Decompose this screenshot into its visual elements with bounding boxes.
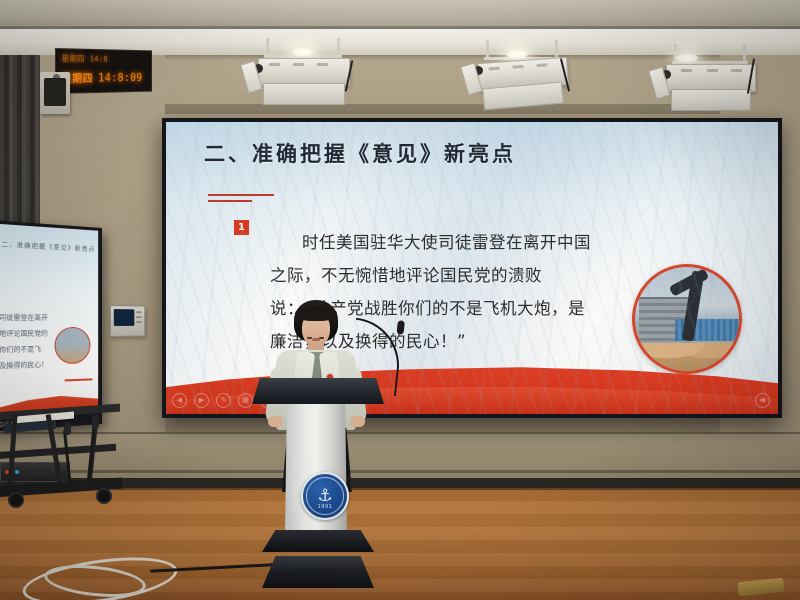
preview-slide-title: 二、准确把握《意见》新亮点 <box>1 239 95 254</box>
led-time: 14:8:09 <box>98 71 142 84</box>
av-control-panel[interactable] <box>110 305 145 337</box>
anchor-icon: ⚓ <box>317 487 332 504</box>
light-vent <box>269 63 280 66</box>
light-vent <box>707 69 718 72</box>
emblem-inner: ⚓ 1991 <box>303 474 347 518</box>
stage-light-left <box>258 38 348 110</box>
microphone-head-icon <box>92 416 99 429</box>
light-body <box>666 64 756 92</box>
control-panel-buttons[interactable] <box>136 311 141 324</box>
wall-speaker <box>40 72 70 114</box>
projection-screen: 二、准确把握《意见》新亮点 1 时任美国驻华大使司徒雷登在离开中国之际，不无惋惜… <box>162 118 782 418</box>
emblem-year: 1991 <box>303 504 347 510</box>
accent-rule-short <box>208 200 252 202</box>
light-lamp-icon <box>292 47 314 57</box>
slide-accent-rules <box>208 194 274 202</box>
presenter-fringe <box>295 306 337 321</box>
control-panel-screen[interactable] <box>114 309 134 326</box>
light-vent <box>731 69 742 72</box>
light-lamp-icon <box>506 49 528 59</box>
led-primary-line: 星期四 14:8:09 <box>56 67 151 89</box>
light-vent <box>488 67 499 71</box>
previous-slide-icon[interactable]: ◀ <box>172 393 187 408</box>
lecture-hall-photo: 星期四 14:8 星期四 14:8:09 <box>0 0 800 600</box>
options-icon[interactable]: ◀ <box>755 393 770 408</box>
pen-tool-icon[interactable]: ✎ <box>216 393 231 408</box>
amplifier-status-led <box>15 470 19 474</box>
preview-monitor-screen: 二、准确把握《意见》新亮点 司徒雷登在离开 地评论国民党的 你们的不是飞 及换得… <box>0 224 98 417</box>
light-body <box>258 58 350 86</box>
preview-line-1: 司徒雷登在离开 <box>0 310 81 326</box>
light-lamp-icon <box>676 53 698 63</box>
stage-light-center <box>478 40 566 112</box>
presenter-mouth <box>312 338 320 341</box>
preview-accent-dash <box>65 378 93 381</box>
slideshow-options[interactable]: ◀ <box>755 393 770 408</box>
photo-sand <box>635 343 739 371</box>
preview-monitor: 二、准确把握《意见》新亮点 司徒雷登在离开 地评论国民党的 你们的不是飞 及换得… <box>0 220 102 432</box>
speaker-grille <box>44 78 66 106</box>
stage-light-right <box>666 44 754 114</box>
next-slide-icon[interactable]: ▶ <box>194 393 209 408</box>
slide-menu-icon[interactable]: ▦ <box>238 393 253 408</box>
slide-title: 二、准确把握《意见》新亮点 <box>204 138 516 168</box>
microphone-gooseneck <box>348 318 403 397</box>
light-vent <box>681 69 692 72</box>
cart-caster <box>8 492 24 508</box>
light-barndoor <box>671 89 751 111</box>
slide-circle-photo <box>632 264 742 374</box>
light-vent <box>293 63 304 66</box>
microphone-head-icon <box>64 422 71 435</box>
light-vent <box>317 63 328 66</box>
accent-rule-long <box>208 194 274 196</box>
podium-emblem: ⚓ 1991 <box>301 472 349 520</box>
stage-monitor-speaker <box>262 556 374 588</box>
podium: ⚓ 1991 <box>252 378 384 570</box>
gooseneck-microphone <box>352 320 412 400</box>
slide-number-badge: 1 <box>234 220 249 235</box>
led-secondary-line: 星期四 14:8 <box>56 49 151 67</box>
podium-base <box>262 530 374 552</box>
cart-caster <box>96 488 112 504</box>
av-equipment-cart <box>0 408 126 504</box>
light-barndoor <box>263 83 345 105</box>
light-vent <box>536 63 547 67</box>
presentation-slide[interactable]: 二、准确把握《意见》新亮点 1 时任美国驻华大使司徒雷登在离开中国之际，不无惋惜… <box>166 122 778 414</box>
microphone-capsule-icon <box>397 320 405 335</box>
light-vent <box>512 65 523 69</box>
preview-circle-photo <box>55 327 91 364</box>
